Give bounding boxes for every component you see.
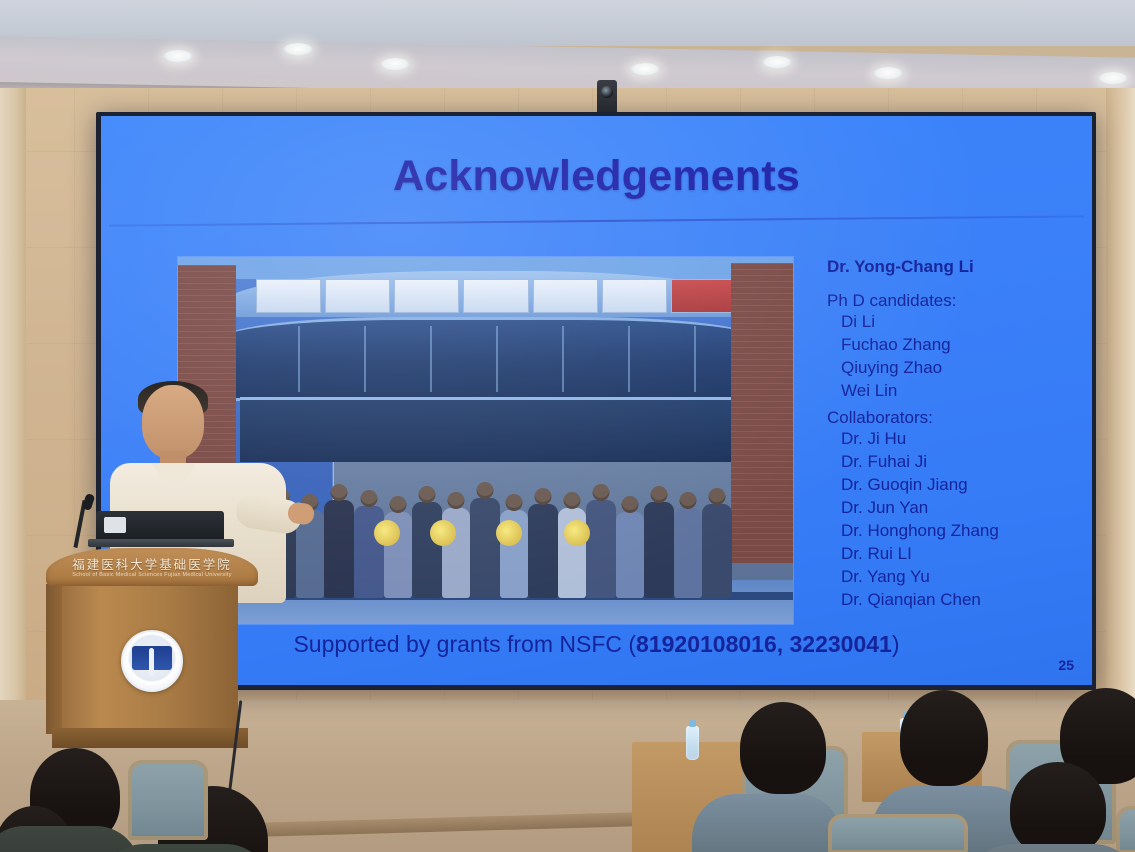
university-emblem — [121, 630, 183, 692]
recessed-downlight — [762, 56, 792, 69]
list-item: Qiuying Zhao — [827, 359, 1077, 376]
podium-chinese-name: 福建医科大学基础医学院 — [46, 554, 258, 573]
photo-person — [616, 512, 644, 598]
photo-plaque — [463, 279, 528, 313]
section-heading-phd: Ph D candidates: — [827, 292, 1077, 309]
list-item: Dr. Fuhai Ji — [827, 453, 1077, 470]
list-item: Wei Lin — [827, 382, 1077, 399]
audience-shoulders — [0, 826, 140, 852]
wall-pilaster-left — [0, 88, 26, 728]
speaker-head — [142, 385, 204, 459]
slide-number: 25 — [1058, 657, 1074, 673]
grant-suffix: ) — [892, 631, 900, 657]
recessed-downlight — [630, 63, 660, 76]
photo-person — [586, 500, 616, 598]
photo-plaque — [533, 279, 598, 313]
photo-person — [702, 504, 732, 598]
photo-bouquet — [564, 520, 590, 546]
list-item: Dr. Yang Yu — [827, 568, 1077, 585]
title-divider — [109, 215, 1084, 226]
list-item: Dr. Guoqin Jiang — [827, 476, 1077, 493]
slide-title: Acknowledgements — [101, 152, 1092, 201]
photo-plaque — [602, 279, 667, 313]
photo-person — [528, 504, 558, 598]
photo-person — [412, 502, 442, 598]
photo-plaque-row — [256, 279, 736, 313]
laptop-screen — [96, 511, 224, 541]
audience-head — [900, 690, 988, 786]
lecture-hall-photo: Acknowledgements — [0, 0, 1135, 852]
list-item: Fuchao Zhang — [827, 336, 1077, 353]
recessed-downlight — [1098, 72, 1128, 85]
photo-plaque — [394, 279, 459, 313]
acknowledgement-list: Dr. Yong-Chang Li Ph D candidates: Di Li… — [827, 258, 1077, 614]
lead-name: Dr. Yong-Chang Li — [827, 258, 1077, 275]
podium-english-name: School of Basic Medical Sciences Fujian … — [46, 572, 258, 578]
list-item: Dr. Rui LI — [827, 545, 1077, 562]
list-item: Di Li — [827, 313, 1077, 330]
auditorium-seat — [1116, 806, 1135, 852]
recessed-downlight — [873, 67, 903, 80]
podium-nameplate: 福建医科大学基础医学院 School of Basic Medical Scie… — [46, 548, 258, 586]
recessed-downlight — [283, 43, 313, 56]
photo-glass-facade — [222, 317, 758, 401]
auditorium-seat — [828, 814, 968, 852]
photo-person — [674, 508, 702, 598]
wall-pilaster-right — [1106, 88, 1135, 728]
audience-area — [0, 690, 1135, 852]
recessed-downlight — [380, 58, 410, 71]
photo-plaque-red — [671, 279, 736, 313]
list-item: Dr. Jun Yan — [827, 499, 1077, 516]
photo-plaque — [325, 279, 390, 313]
audience-head — [740, 702, 826, 794]
list-item: Dr. Qianqian Chen — [827, 591, 1077, 608]
auditorium-seat — [128, 760, 208, 840]
photo-bouquet — [430, 520, 456, 546]
photo-plaque — [256, 279, 321, 313]
photo-person — [354, 506, 384, 598]
camera-lens-icon — [601, 86, 613, 98]
laptop-keyboard — [88, 539, 234, 547]
photo-bouquet — [496, 520, 522, 546]
audience-shoulders — [692, 794, 842, 852]
photo-person — [470, 498, 500, 598]
grant-prefix: Supported by grants from NSFC ( — [293, 631, 636, 657]
water-bottle — [686, 726, 699, 760]
grant-numbers: 81920108016, 32230041 — [636, 631, 892, 657]
photo-bouquet — [374, 520, 400, 546]
photo-person — [324, 500, 354, 598]
section-heading-collaborators: Collaborators: — [827, 409, 1077, 426]
laptop-badge — [104, 517, 126, 533]
grant-acknowledgement: Supported by grants from NSFC (819201080… — [101, 631, 1092, 658]
list-item: Dr. Ji Hu — [827, 430, 1077, 447]
list-item: Dr. Honghong Zhang — [827, 522, 1077, 539]
recessed-downlight — [163, 50, 193, 63]
audience-head — [1010, 762, 1106, 852]
photo-person — [644, 502, 674, 598]
